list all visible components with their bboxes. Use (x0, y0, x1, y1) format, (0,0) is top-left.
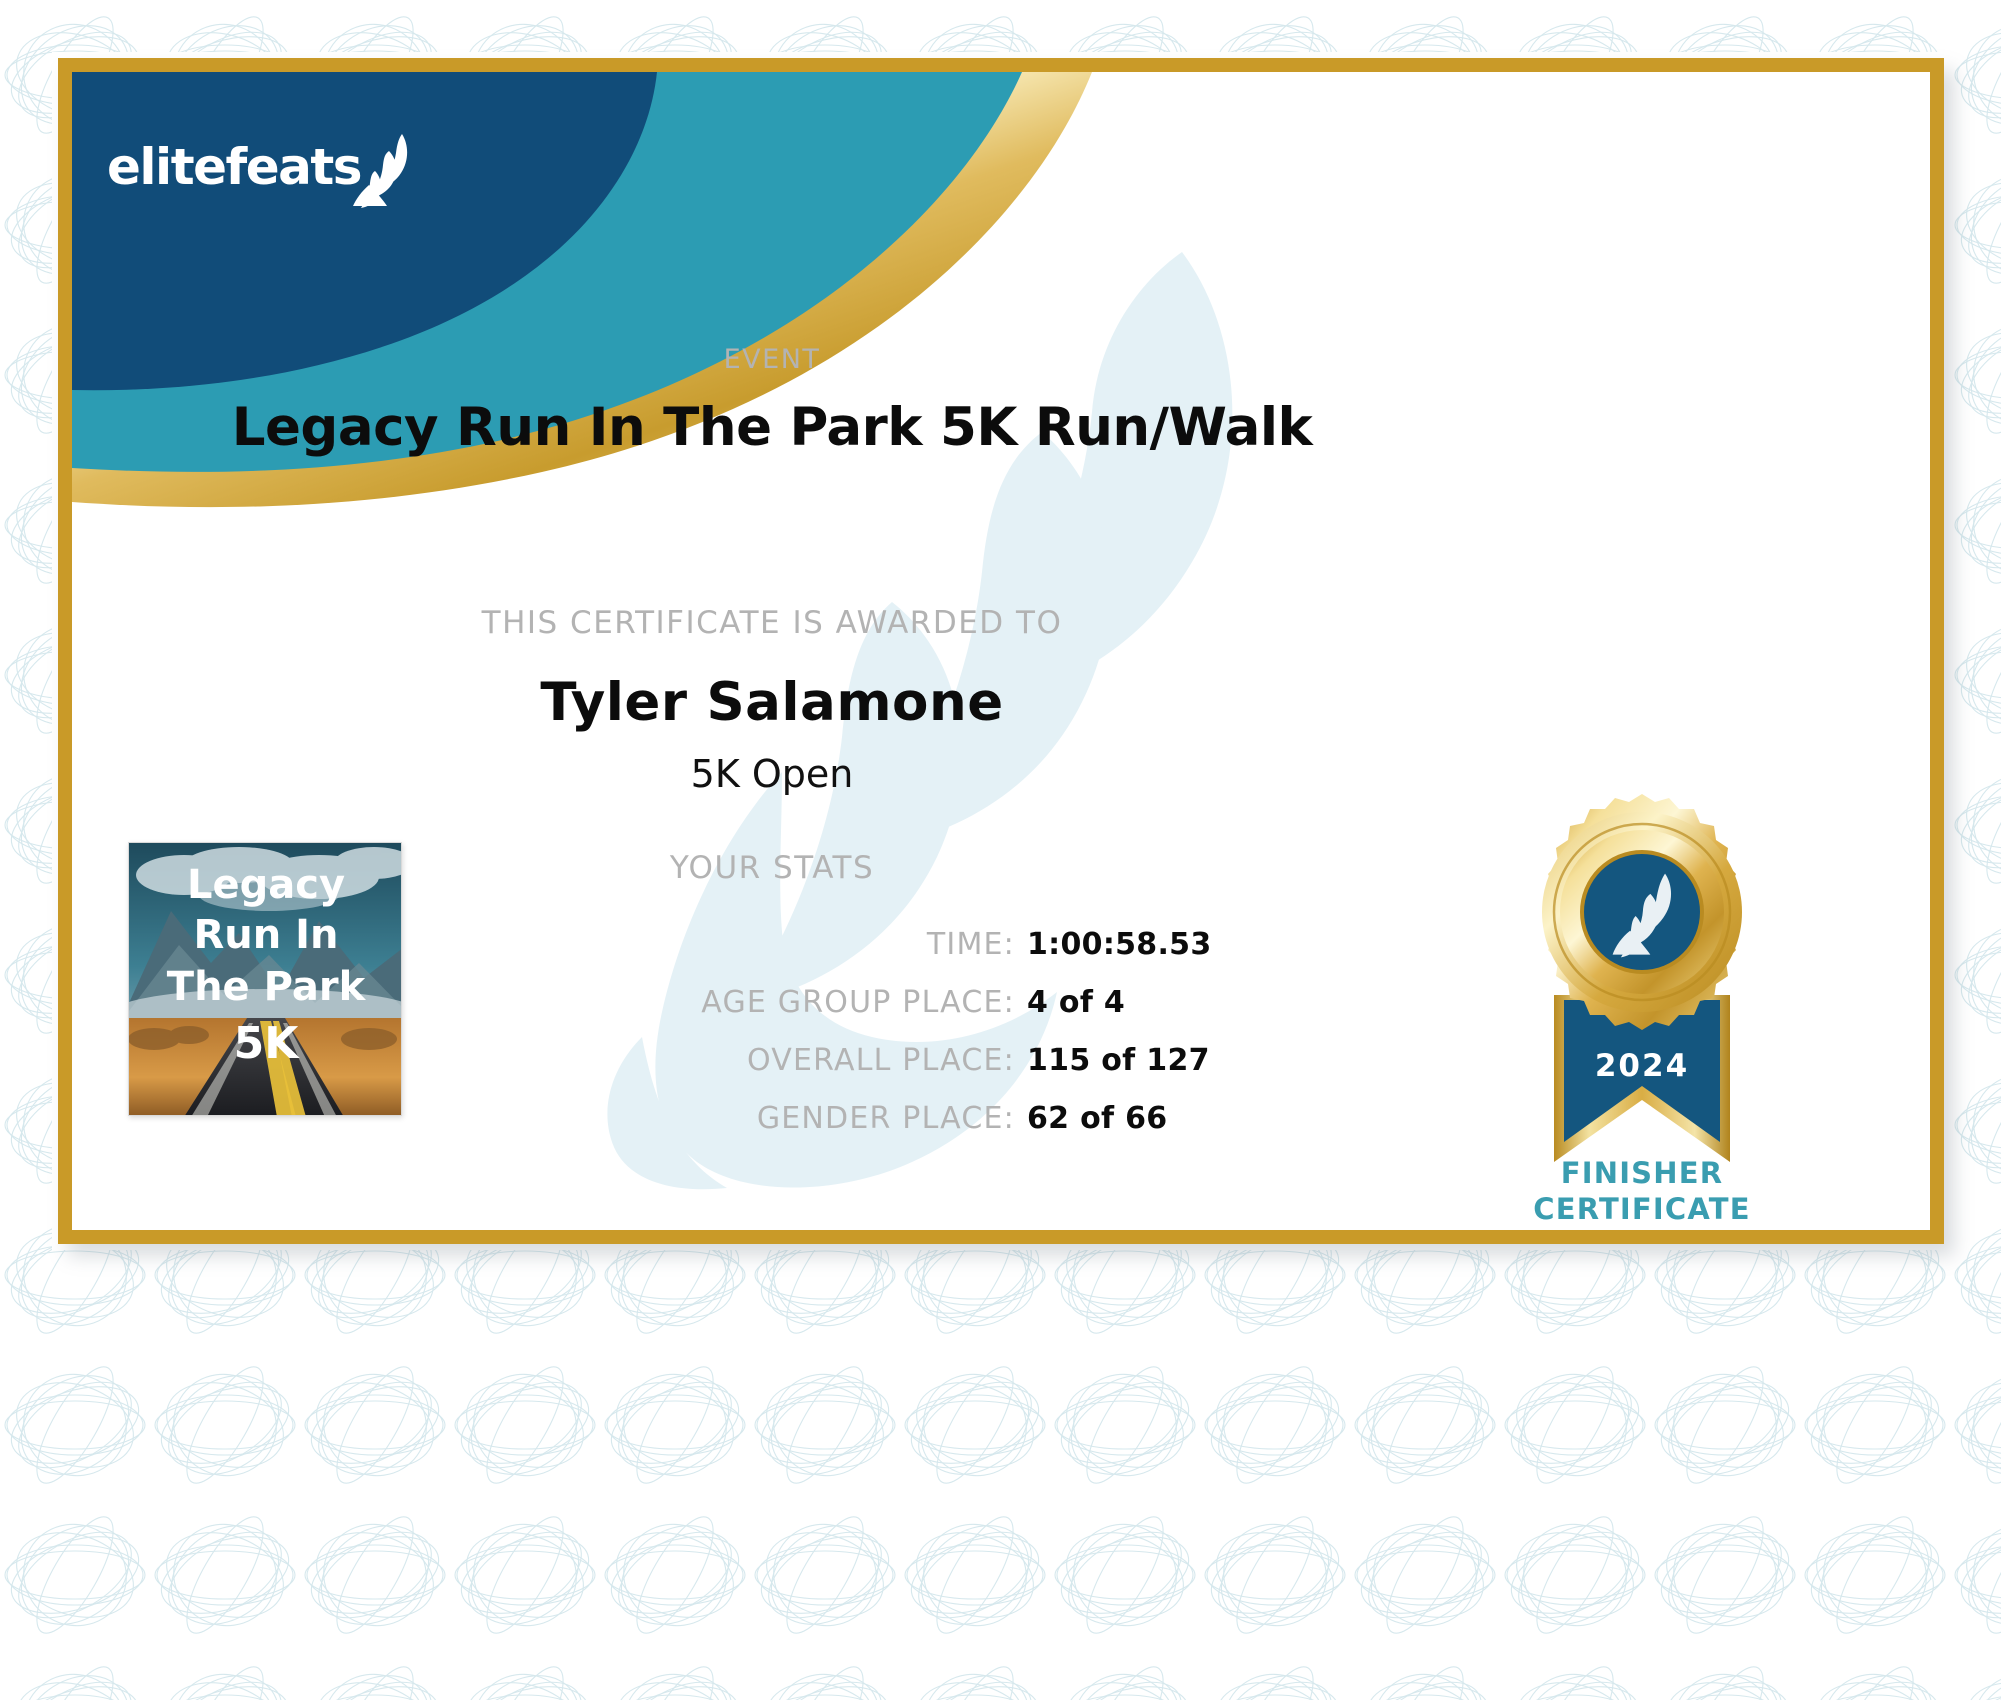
stat-row-age-group-place: AGE GROUP PLACE: 4 of 4 (402, 985, 1472, 1020)
stat-value-gender-place: 62 of 66 (1027, 1101, 1167, 1136)
thumb-line-1: Legacy (187, 862, 345, 908)
stat-value-time: 1:00:58.53 (1027, 927, 1212, 962)
stat-value-overall-place: 115 of 127 (1027, 1043, 1210, 1078)
stat-row-overall-place: OVERALL PLACE: 115 of 127 (402, 1043, 1472, 1078)
event-logo-artwork: Legacy Run In The Park 5K (129, 843, 402, 1116)
medal-caption: FINISHER CERTIFICATE (1452, 1155, 1832, 1227)
thumb-line-2: Run In (193, 912, 338, 958)
stat-row-gender-place: GENDER PLACE: 62 of 66 (402, 1101, 1472, 1136)
stat-label-gender-place: GENDER PLACE: (402, 1101, 1027, 1136)
certificate-content: EVENT Legacy Run In The Park 5K Run/Walk… (72, 72, 1930, 1230)
stat-label-age-group-place: AGE GROUP PLACE: (402, 985, 1027, 1020)
finisher-medal-badge: 2024 (1502, 790, 1782, 1190)
medal-year: 2024 (1595, 1048, 1689, 1084)
thumb-line-4: 5K (234, 1018, 301, 1069)
event-logo-thumbnail: Legacy Run In The Park 5K (128, 842, 402, 1116)
recipient-division: 5K Open (72, 752, 1472, 796)
event-title: Legacy Run In The Park 5K Run/Walk (72, 397, 1472, 458)
awarded-to-label: THIS CERTIFICATE IS AWARDED TO (72, 605, 1472, 641)
medal-caption-line-1: FINISHER (1561, 1156, 1724, 1190)
certificate-inner-canvas: elitefeats EVENT Legacy Run In The Park … (72, 72, 1930, 1230)
medal-caption-line-2: CERTIFICATE (1533, 1192, 1751, 1226)
stat-value-age-group-place: 4 of 4 (1027, 985, 1125, 1020)
stat-label-overall-place: OVERALL PLACE: (402, 1043, 1027, 1078)
certificate-page: elitefeats EVENT Legacy Run In The Park … (0, 0, 2001, 1700)
stat-label-time: TIME: (402, 927, 1027, 962)
recipient-name: Tyler Salamone (72, 672, 1472, 733)
stats-list: TIME: 1:00:58.53 AGE GROUP PLACE: 4 of 4… (402, 927, 1472, 1159)
event-label: EVENT (72, 344, 1472, 375)
thumb-line-3: The Park (167, 964, 367, 1010)
stat-row-time: TIME: 1:00:58.53 (402, 927, 1472, 962)
